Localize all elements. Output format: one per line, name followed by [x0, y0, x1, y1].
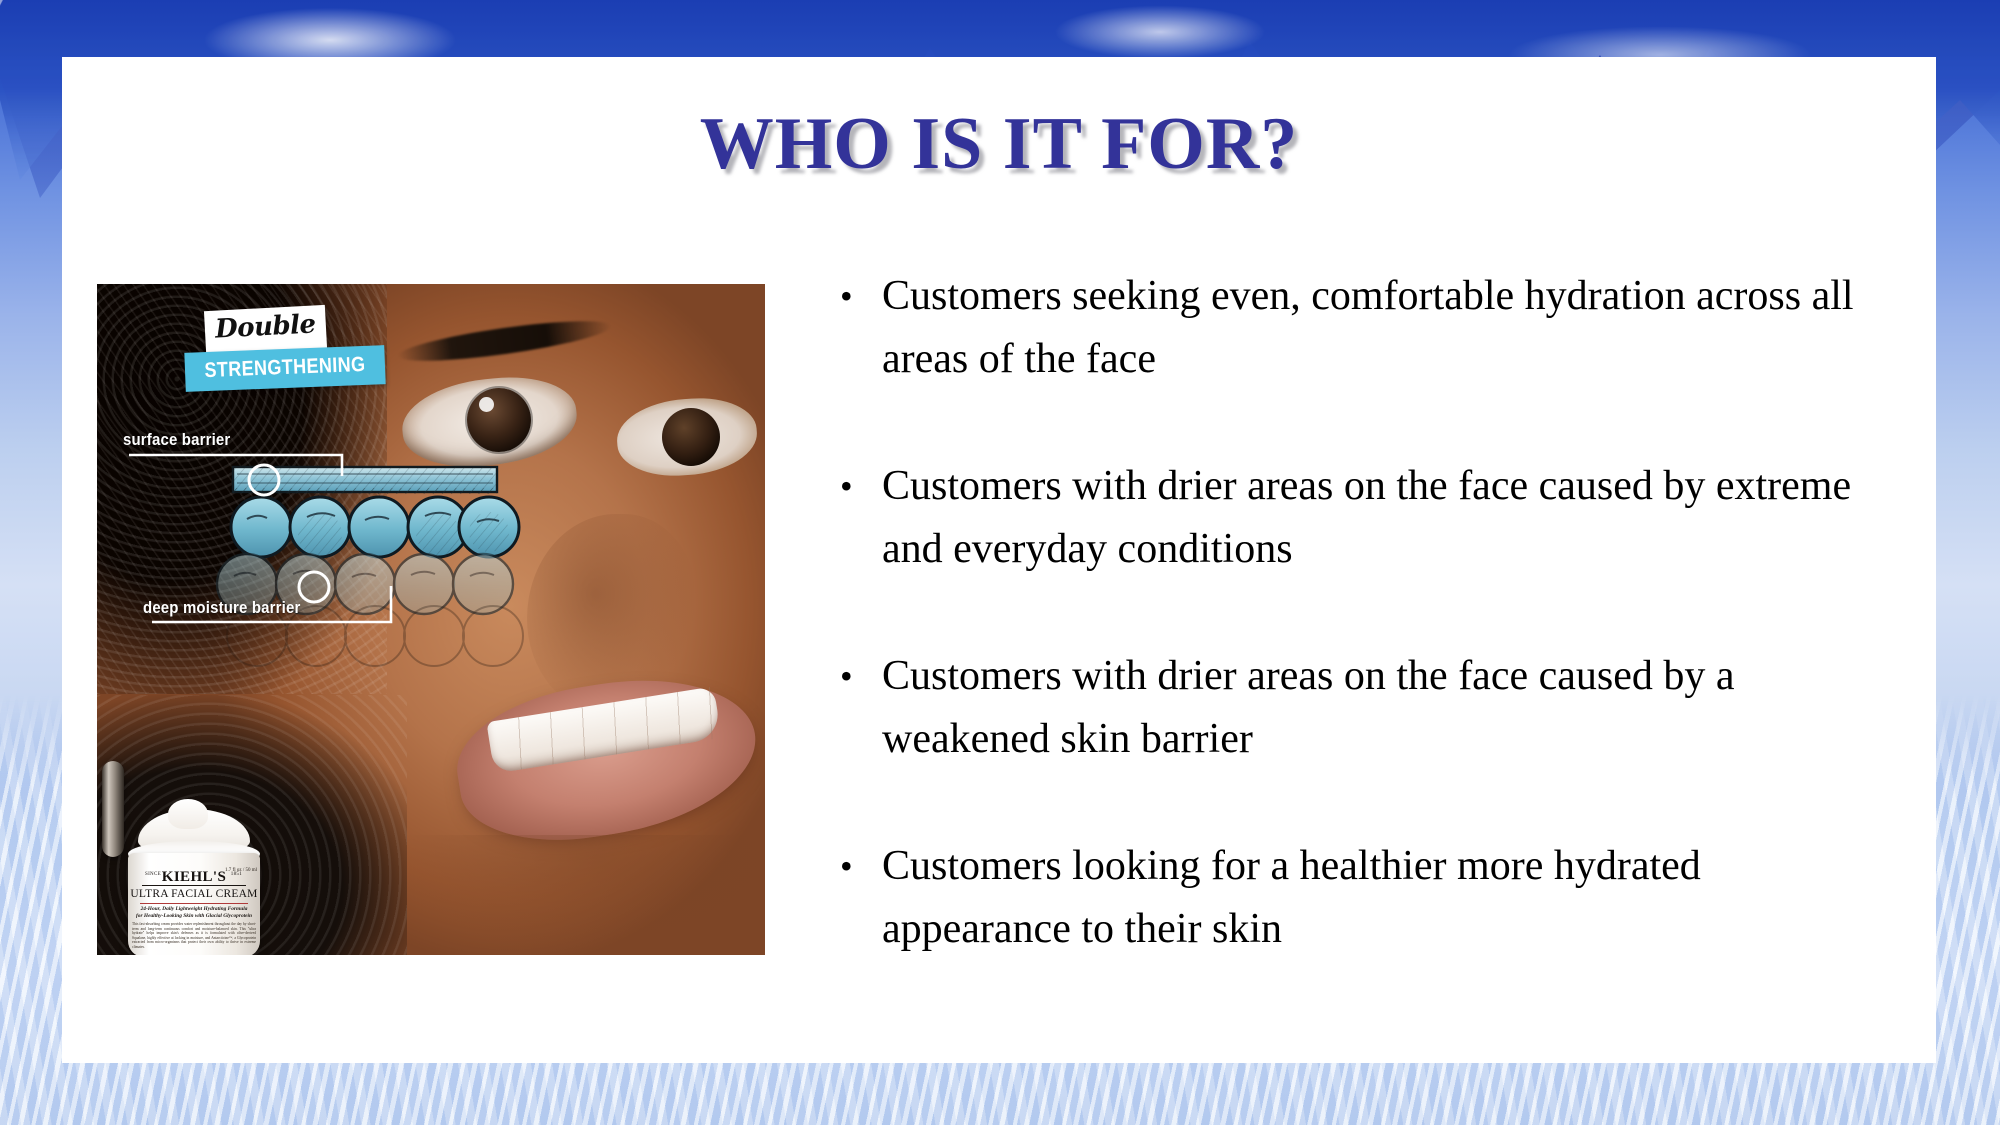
bullet-text: Customers seeking even, comfortable hydr…	[882, 265, 1892, 391]
strengthening-banner: STRENGTHENING	[184, 345, 385, 392]
list-item: • Customers with drier areas on the face…	[832, 455, 1892, 581]
photo-chin-shadow	[397, 835, 765, 955]
bullet-text: Customers looking for a healthier more h…	[882, 835, 1892, 961]
bullet-marker: •	[832, 455, 882, 518]
photo-iris-left	[467, 388, 531, 452]
bullet-marker: •	[832, 835, 882, 898]
product-jar: SINCE KIEHL'S 1851 ULTRA FACIAL CREAM 24…	[120, 809, 268, 955]
bullet-list: • Customers seeking even, comfortable hy…	[832, 265, 1892, 961]
callout-label-deep-moisture-barrier: deep moisture barrier	[143, 598, 301, 618]
product-tube-behind	[102, 761, 124, 857]
bullet-marker: •	[832, 645, 882, 708]
content-card: WHO IS IT FOR?	[62, 57, 1936, 1063]
bullet-text: Customers with drier areas on the face c…	[882, 455, 1892, 581]
slide-root: WHO IS IT FOR?	[0, 0, 2000, 1125]
bullet-text: Customers with drier areas on the face c…	[882, 645, 1892, 771]
jar-divider-rule	[142, 885, 246, 886]
jar-tagline-line1: 24-Hour, Daily Lightweight Hydrating For…	[128, 906, 260, 912]
callout-label-surface-barrier: surface barrier	[123, 430, 230, 450]
double-tag-label: Double	[204, 309, 326, 345]
photo-iris-right	[662, 408, 720, 466]
jar-volume-text: 1.7 fl oz / 50 ml	[225, 867, 257, 874]
page-title: WHO IS IT FOR?	[62, 102, 1936, 187]
jar-accent-rule	[140, 903, 248, 904]
jar-label-body: SINCE KIEHL'S 1851 ULTRA FACIAL CREAM 24…	[128, 853, 260, 955]
jar-tagline-line2: for Healthy-Looking Skin with Glacial Gl…	[128, 913, 260, 919]
bullet-marker: •	[832, 265, 882, 328]
list-item: • Customers looking for a healthier more…	[832, 835, 1892, 961]
jar-fine-print: This fast-absorbing cream provides water…	[132, 922, 256, 950]
list-item: • Customers with drier areas on the face…	[832, 645, 1892, 771]
list-item: • Customers seeking even, comfortable hy…	[832, 265, 1892, 391]
product-hero-photo: surface barrier deep moisture barrier Do…	[97, 284, 765, 955]
jar-product-name: ULTRA FACIAL CREAM	[128, 888, 260, 900]
strengthening-banner-label: STRENGTHENING	[199, 353, 372, 384]
double-tag: Double	[204, 305, 327, 354]
